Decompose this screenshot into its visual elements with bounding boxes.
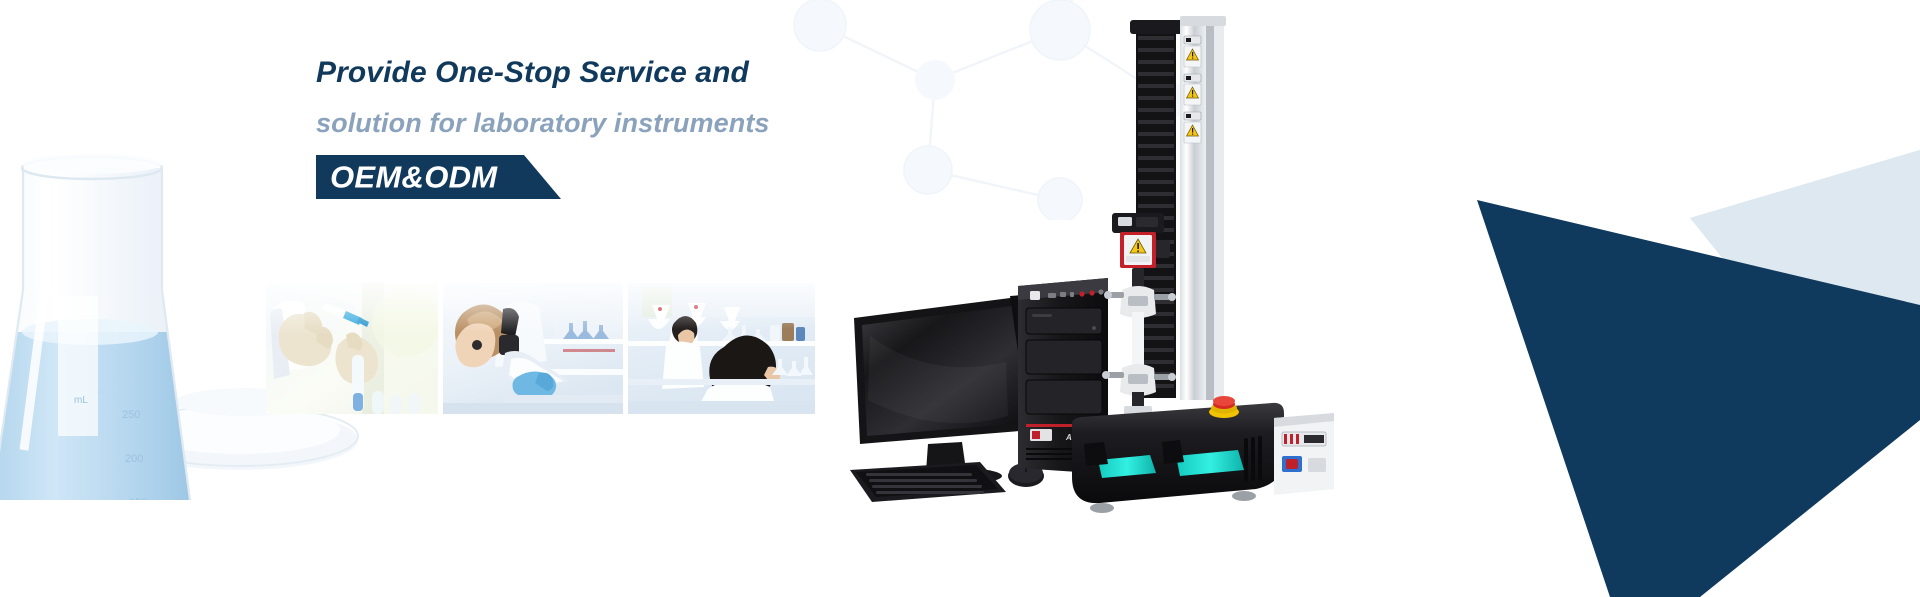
lcd-monitor — [854, 294, 1040, 485]
headline-line-1: Provide One-Stop Service and — [316, 58, 770, 88]
graduation-200: 200 — [125, 453, 143, 465]
badge-label: OEM&ODM — [330, 162, 497, 193]
photo-strip — [266, 283, 815, 414]
warning-labels — [1184, 36, 1201, 143]
universal-testing-machine — [1072, 16, 1334, 513]
erlenmeyer-flask: 250 200 150 mL — [0, 154, 210, 500]
photo-pipetting — [266, 283, 438, 414]
oem-odm-badge: OEM&ODM — [316, 155, 561, 199]
unit-label: mL — [74, 395, 88, 406]
arrow-light — [1690, 150, 1920, 330]
hero-banner: Provide One-Stop Service and solution fo… — [0, 0, 1920, 597]
graduation-250: 250 — [122, 409, 140, 421]
keyboard — [850, 462, 1006, 502]
arrow-navy — [1477, 200, 1920, 597]
photo-microscope — [443, 283, 623, 414]
headline-line-2: solution for laboratory instruments — [316, 110, 770, 137]
hardware-cluster: ASUS — [840, 0, 1480, 597]
graduation-150: 150 — [129, 497, 147, 500]
headline-block: Provide One-Stop Service and solution fo… — [316, 58, 770, 199]
photo-lab-bench — [628, 283, 815, 414]
